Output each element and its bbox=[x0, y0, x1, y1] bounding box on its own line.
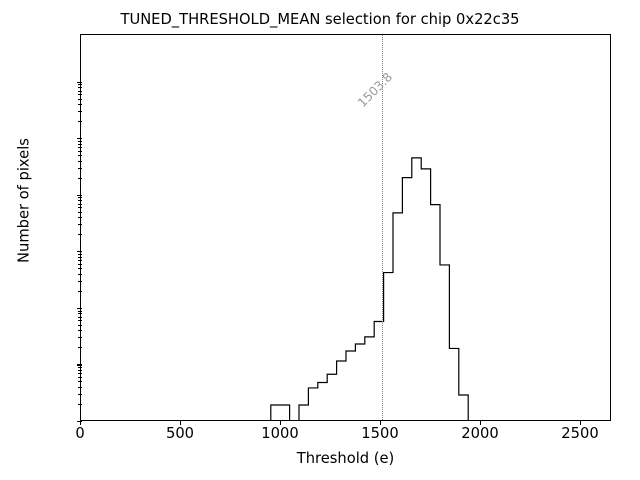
x-tick-label: 2000 bbox=[461, 425, 498, 442]
y-axis-label: Number of pixels bbox=[16, 0, 33, 411]
x-tick-label: 500 bbox=[166, 425, 194, 442]
chart-title: TUNED_THRESHOLD_MEAN selection for chip … bbox=[0, 11, 640, 28]
plot-area bbox=[80, 34, 611, 421]
x-tick-label: 1500 bbox=[361, 425, 398, 442]
histogram-series bbox=[81, 35, 611, 421]
figure-canvas: TUNED_THRESHOLD_MEAN selection for chip … bbox=[0, 0, 640, 480]
x-tick-label: 0 bbox=[75, 425, 84, 442]
x-tick-label: 2500 bbox=[561, 425, 598, 442]
x-axis-label: Threshold (e) bbox=[80, 450, 611, 467]
x-tick-label: 1000 bbox=[261, 425, 298, 442]
histogram-step-outline bbox=[252, 158, 496, 421]
